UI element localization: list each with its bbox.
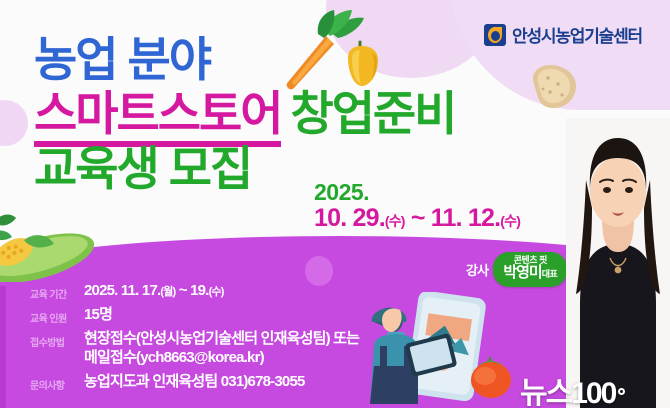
info-value-application: 현장접수(안성시농업기술센터 인재육성팀) 또는 메일접수(ych8663@ko… (84, 330, 359, 368)
watermark-dot-icon (618, 388, 625, 395)
info-value-period: 2025. 11. 17.(월) ~ 19.(수) (84, 282, 224, 301)
period-start: 2025. 11. 17. (84, 282, 160, 299)
info-row-application: 접수방법 현장접수(안성시농업기술센터 인재육성팀) 또는 메일접수(ych86… (30, 330, 380, 368)
info-value-capacity: 15명 (84, 306, 112, 325)
period-end-dow: (수) (209, 286, 224, 298)
instructor-badge: 콘텐츠 핏 박영미대표 (493, 252, 567, 287)
date-tilde: ~ (411, 204, 425, 232)
info-row-contact: 문의사항 농업지도과 인재육성팀 031)678-3055 (30, 373, 380, 392)
headline-line-1: 농업 분야 (34, 36, 534, 83)
date-end: 11. 12. (431, 204, 500, 232)
application-line-2: 메일접수(ych8663@korea.kr) (84, 349, 359, 368)
instructor-role: 대표 (542, 269, 558, 279)
left-accent-strip (0, 286, 6, 408)
info-label-contact: 문의사항 (30, 373, 84, 392)
headline-startup-prep: 창업준비 (290, 87, 455, 140)
headline-line-2: 스마트스토어창업준비 (34, 90, 534, 137)
period-start-dow: (월) (160, 286, 175, 298)
headline-smartstore: 스마트스토어 (34, 87, 281, 147)
info-label-capacity: 교육 인원 (30, 306, 84, 325)
info-row-capacity: 교육 인원 15명 (30, 306, 380, 325)
news-watermark: 뉴스100 (520, 368, 625, 408)
date-start-dow: (수) (385, 213, 405, 229)
instructor-name: 박영미 (503, 264, 541, 281)
promotional-poster: 안성시농업기술센터 농업 분야 스마트스토어창업준비 교육생 모집 2025. … (0, 0, 670, 408)
watermark-text: 뉴스100 (520, 377, 615, 408)
info-row-period: 교육 기간 2025. 11. 17.(월) ~ 19.(수) (30, 282, 380, 301)
info-label-period: 교육 기간 (30, 282, 84, 301)
headline-block: 농업 분야 스마트스토어창업준비 교육생 모집 (34, 36, 534, 192)
application-line-1: 현장접수(안성시농업기술센터 인재육성팀) 또는 (84, 330, 359, 347)
info-label-application: 접수방법 (30, 330, 84, 349)
date-block: 2025. 10. 29.(수) ~ 11. 12.(수) (314, 180, 544, 232)
info-value-contact: 농업지도과 인재육성팀 031)678-3055 (84, 373, 305, 392)
farmer-with-tablet-illustration (352, 292, 532, 408)
date-range: 10. 29.(수) ~ 11. 12.(수) (314, 205, 544, 232)
period-end: 19. (190, 282, 208, 299)
corn-icon (0, 196, 98, 282)
date-start: 10. 29. (314, 204, 385, 232)
instructor-block: 강사 콘텐츠 핏 박영미대표 (466, 252, 567, 287)
period-sep: ~ (175, 282, 190, 299)
info-block: 교육 기간 2025. 11. 17.(월) ~ 19.(수) 교육 인원 15… (30, 282, 380, 397)
date-end-dow: (수) (500, 213, 520, 229)
date-year: 2025. (314, 180, 544, 205)
instructor-label: 강사 (466, 260, 488, 279)
instructor-portrait-photo (566, 118, 670, 408)
